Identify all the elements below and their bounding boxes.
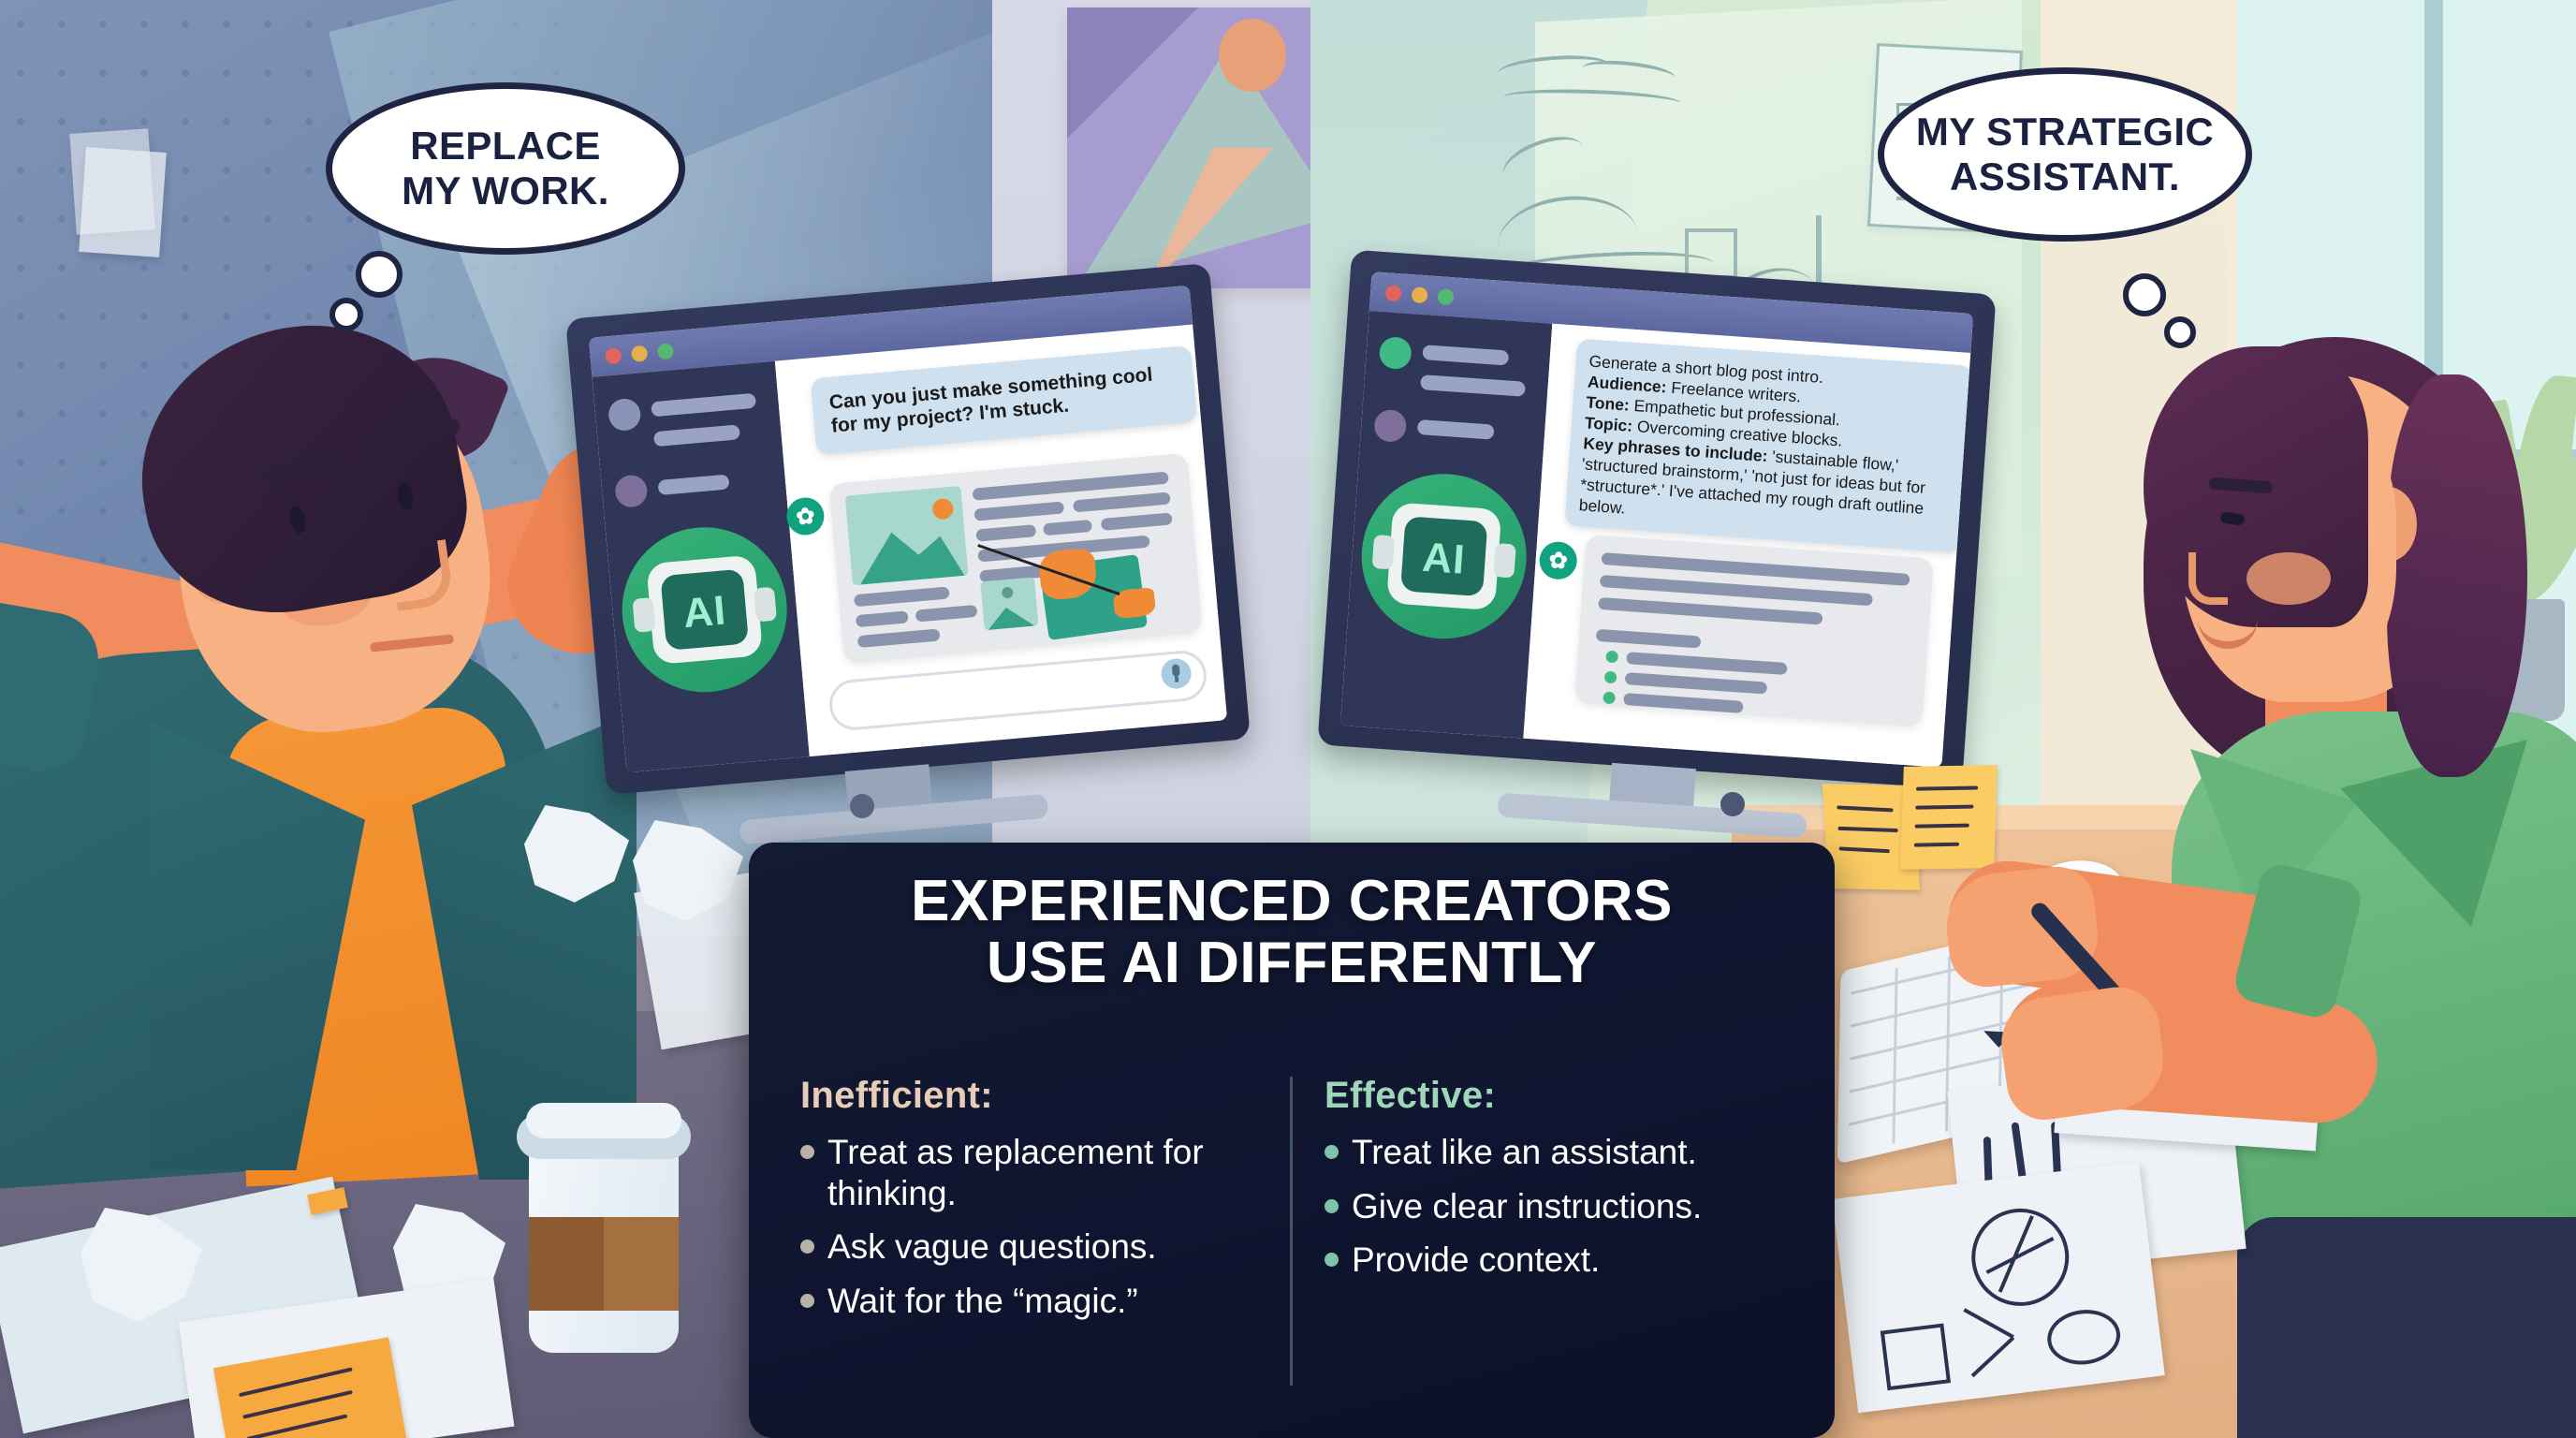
bullet-dot-icon: [800, 1240, 814, 1254]
right-chat-area: Generate a short blog post intro. Audien…: [1523, 324, 1970, 768]
list-item: Provide context.: [1325, 1240, 1811, 1281]
column-heading-inefficient: Inefficient:: [800, 1075, 1268, 1117]
sidebar-item[interactable]: [653, 424, 740, 447]
office-chair: [2237, 1217, 2576, 1438]
sketch-paper: [1832, 1162, 2165, 1414]
coffee-cup-sleeve-highlight: [604, 1217, 679, 1311]
list-item-text: Provide context.: [1352, 1240, 1600, 1281]
response-image-placeholder-icon: [980, 577, 1038, 630]
page-title-line2: USE AI DIFFERENTLY: [777, 932, 1807, 994]
list-item: Ask vague questions.: [800, 1226, 1268, 1268]
right-chat-sidebar: AI: [1340, 311, 1552, 739]
right-monitor-power-led: [1720, 792, 1745, 816]
left-chat-area: Can you just make something cool for my …: [775, 325, 1227, 756]
thought-bubble-right-tail-dot: [2164, 316, 2196, 348]
page-title-line1: EXPERIENCED CREATORS: [777, 871, 1807, 932]
bullet-list-effective: Treat like an assistant. Give clear inst…: [1325, 1132, 1811, 1281]
woman-nose: [2188, 552, 2228, 605]
response-bullet-dot: [1604, 671, 1617, 684]
infographic-canvas: AI Can you just make something cool for …: [0, 0, 2576, 1438]
pinned-paper-front: [79, 147, 167, 257]
left-ai-response-bubble: [829, 453, 1203, 664]
sidebar-item[interactable]: [1417, 419, 1495, 440]
woman-cheek-blush: [2247, 552, 2331, 605]
response-image-placeholder-icon: [845, 486, 969, 585]
bullet-dot-icon: [800, 1294, 814, 1308]
left-monitor-screen: AI Can you just make something cool for …: [589, 286, 1227, 772]
ai-assistant-avatar-icon: AI: [1356, 468, 1532, 644]
bullet-list-inefficient: Treat as replacement for thinking. Ask v…: [800, 1132, 1268, 1322]
thought-bubble-left: REPLACE MY WORK.: [326, 82, 685, 255]
column-inefficient: Inefficient: Treat as replacement for th…: [800, 1075, 1268, 1335]
coffee-cup-lid-top: [526, 1103, 681, 1138]
ai-avatar-label: AI: [1360, 530, 1528, 588]
thought-bubble-left-line2: MY WORK.: [402, 169, 609, 213]
left-chat-input[interactable]: [827, 649, 1208, 732]
thought-bubble-left-tail-dot: [356, 251, 402, 298]
right-ai-response-bubble: [1574, 535, 1934, 727]
thought-bubble-left-tail-dot: [329, 298, 363, 331]
sticky-note: [1900, 765, 1998, 870]
ai-assistant-avatar-icon: AI: [615, 521, 794, 699]
list-item: Wait for the “magic.”: [800, 1281, 1268, 1322]
bullet-dot-icon: [1325, 1199, 1339, 1213]
thought-bubble-right-tail-dot: [2123, 273, 2166, 316]
list-item-text: Wait for the “magic.”: [827, 1281, 1138, 1322]
bullet-dot-icon: [800, 1145, 814, 1159]
bullet-dot-icon: [1325, 1145, 1339, 1159]
sun-shape-icon: [1219, 19, 1286, 92]
list-item: Give clear instructions.: [1325, 1186, 1811, 1227]
list-item: Treat as replacement for thinking.: [800, 1132, 1268, 1213]
thought-bubble-right: MY STRATEGIC ASSISTANT.: [1878, 67, 2252, 242]
left-chat-sidebar: AI: [593, 361, 810, 772]
left-user-message-bubble: Can you just make something cool for my …: [811, 345, 1198, 455]
left-monitor-power-led: [850, 794, 874, 818]
column-divider: [1290, 1077, 1293, 1386]
whiteboard-square-icon: [1685, 228, 1737, 279]
sidebar-avatar-icon: [1379, 336, 1412, 370]
abstract-wall-art: [1067, 7, 1339, 288]
thought-bubble-right-line1: MY STRATEGIC: [1916, 110, 2214, 154]
sidebar-avatar-icon: [614, 474, 649, 508]
sidebar-avatar-icon: [607, 398, 642, 433]
thought-bubble-right-line2: ASSISTANT.: [1950, 154, 2180, 199]
sidebar-item[interactable]: [1422, 345, 1509, 365]
woman-hair-side: [2387, 374, 2527, 777]
sidebar-item[interactable]: [1420, 374, 1526, 397]
right-monitor-screen: AI Generate a short blog post intro. Aud…: [1340, 271, 1973, 768]
list-item-text: Give clear instructions.: [1352, 1186, 1702, 1227]
list-item-text: Treat like an assistant.: [1352, 1132, 1697, 1173]
list-item-text: Treat as replacement for thinking.: [827, 1132, 1268, 1213]
ai-avatar-label: AI: [621, 582, 789, 643]
column-heading-effective: Effective:: [1325, 1075, 1811, 1117]
thought-bubble-left-line1: REPLACE: [410, 124, 601, 169]
sidebar-item[interactable]: [657, 474, 729, 495]
column-effective: Effective: Treat like an assistant. Give…: [1325, 1075, 1811, 1294]
page-title: EXPERIENCED CREATORS USE AI DIFFERENTLY: [777, 871, 1807, 995]
list-item-text: Ask vague questions.: [827, 1226, 1157, 1268]
list-item: Treat like an assistant.: [1325, 1132, 1811, 1173]
sidebar-item[interactable]: [651, 393, 756, 418]
right-user-prompt-bubble: Generate a short blog post intro. Audien…: [1564, 339, 1973, 553]
response-bullet-dot: [1603, 691, 1616, 704]
response-bullet-dot: [1605, 651, 1618, 664]
assistant-logo-icon: ✿: [1538, 540, 1578, 580]
sidebar-avatar-icon: [1373, 409, 1407, 443]
bullet-dot-icon: [1325, 1253, 1339, 1267]
assistant-logo-icon: ✿: [785, 496, 826, 536]
